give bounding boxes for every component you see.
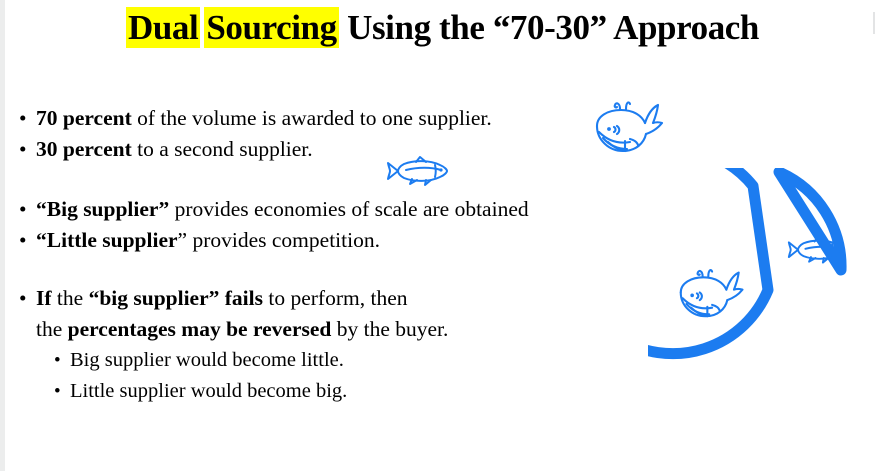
bullet-marker: • [19, 103, 27, 134]
final-lead-if: If [36, 286, 52, 310]
list-item: •“Big supplier” provides economies of sc… [0, 194, 660, 225]
final-text-the2: the [36, 317, 68, 341]
pie-chart [648, 168, 885, 405]
list-item-text: to a second supplier. [132, 137, 313, 161]
final-lead-big-supplier-fails: “big supplier” fails [89, 286, 263, 310]
list-item-continuation: the percentages may be reversed by the b… [0, 314, 660, 345]
list-item-text: provides economies of scale are obtained [169, 197, 528, 221]
list-spacer [0, 256, 660, 283]
sub-bullet-marker: • [54, 345, 61, 376]
title-rest: Using the “70-30” Approach [347, 8, 759, 47]
list-spacer [0, 165, 660, 194]
sub-list-item-text: Big supplier would become little. [70, 349, 344, 371]
final-text-buyer: by the buyer. [331, 317, 448, 341]
list-item: •If the “big supplier” fails to perform,… [0, 283, 660, 314]
slide-canvas: DualSourcing Using the “70-30” Approach … [0, 0, 885, 471]
list-item-text: provides competition. [187, 228, 380, 252]
list-item-lead: 30 percent [36, 137, 132, 161]
title-highlight-dual: Dual [126, 7, 200, 48]
final-lead-percentages-reversed: percentages may be reversed [68, 317, 332, 341]
sub-list-item: •Big supplier would become little. [0, 345, 660, 376]
list-item-lead: “Big supplier” [36, 197, 169, 221]
list-item-quote: ” [178, 228, 188, 252]
sub-list-item: •Little supplier would become big. [0, 376, 660, 407]
page-title: DualSourcing Using the “70-30” Approach [0, 6, 885, 50]
pie-whale-icon [681, 270, 743, 316]
bullet-marker: • [19, 134, 27, 165]
fish-icon [386, 155, 452, 192]
final-text-perform: to perform, then [263, 286, 408, 310]
sub-bullet-marker: • [54, 376, 61, 407]
list-item: •“Little supplier” provides competition. [0, 225, 660, 256]
bullet-list: •70 percent of the volume is awarded to … [0, 103, 660, 407]
final-text-the: the [52, 286, 89, 310]
bullet-marker: • [19, 283, 27, 314]
sub-list-item-text: Little supplier would become big. [70, 380, 347, 402]
bullet-marker: • [19, 225, 27, 256]
list-item: •30 percent to a second supplier. [0, 134, 660, 165]
list-item-lead: “Little supplier [36, 228, 178, 252]
list-item: •70 percent of the volume is awarded to … [0, 103, 660, 134]
list-item-text: of the volume is awarded to one supplier… [132, 106, 492, 130]
pie-slice-big [648, 168, 768, 354]
bullet-marker: • [19, 194, 27, 225]
whale-icon [592, 96, 664, 163]
title-highlight-sourcing: Sourcing [204, 7, 338, 48]
list-item-lead: 70 percent [36, 106, 132, 130]
